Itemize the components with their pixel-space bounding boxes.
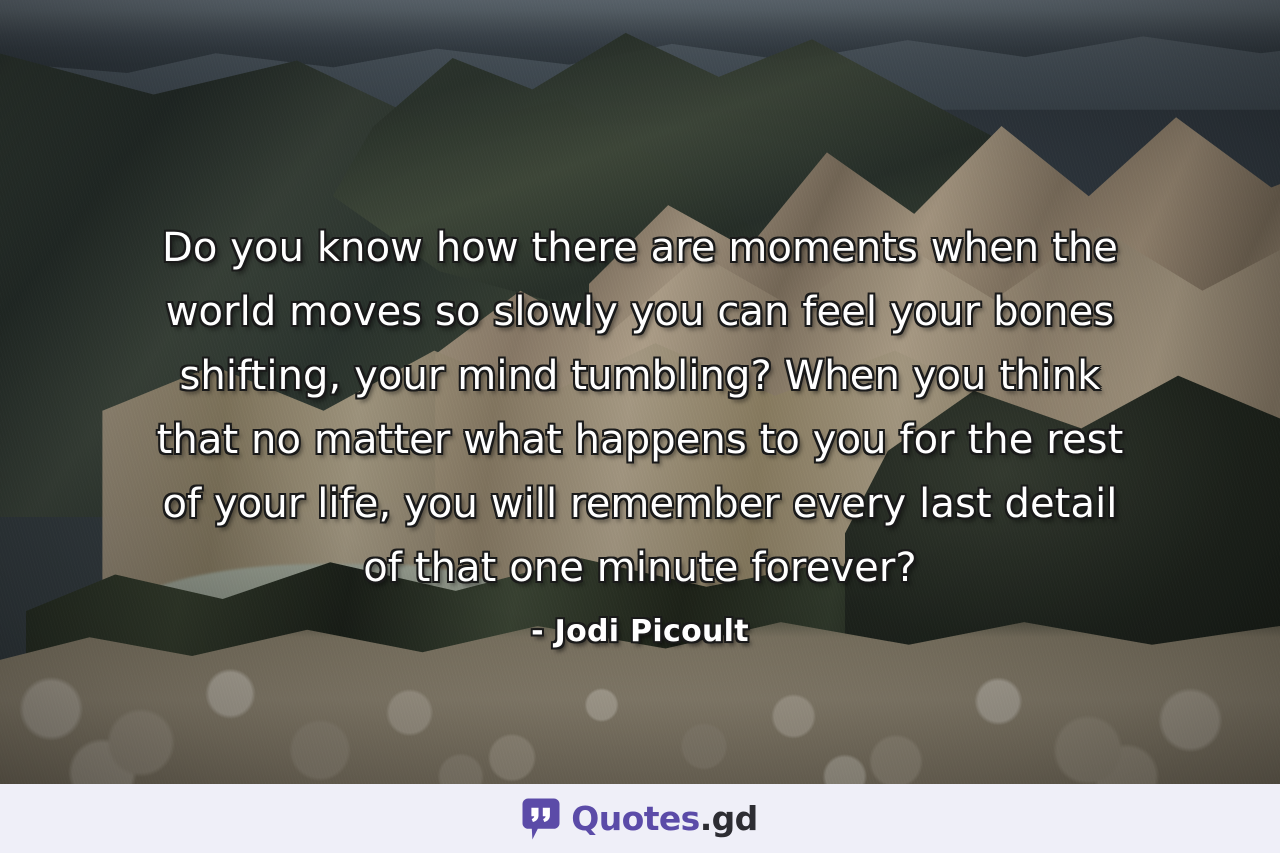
quote-line: world moves so slowly you can feel your … (56, 280, 1224, 344)
quote-line: that no matter what happens to you for t… (56, 408, 1224, 472)
quote-image-page: Do you know how there are moments when t… (0, 0, 1280, 853)
quote-line: shifting, your mind tumbling? When you t… (56, 344, 1224, 408)
brand-wordmark: Quotes.gd (571, 802, 757, 835)
quote-line: Do you know how there are moments when t… (56, 216, 1224, 280)
footer-bar: Quotes.gd (0, 784, 1280, 853)
quote-line: of that one minute forever? (56, 536, 1224, 600)
brand-name: Quotes (571, 799, 699, 838)
site-logo[interactable]: Quotes.gd (522, 798, 757, 840)
brand-tld: .gd (700, 799, 758, 838)
quote-block: Do you know how there are moments when t… (0, 216, 1280, 650)
quote-line: of your life, you will remember every la… (56, 472, 1224, 536)
quote-author: - Jodi Picoult (56, 614, 1224, 650)
quote-bubble-icon (522, 798, 560, 840)
